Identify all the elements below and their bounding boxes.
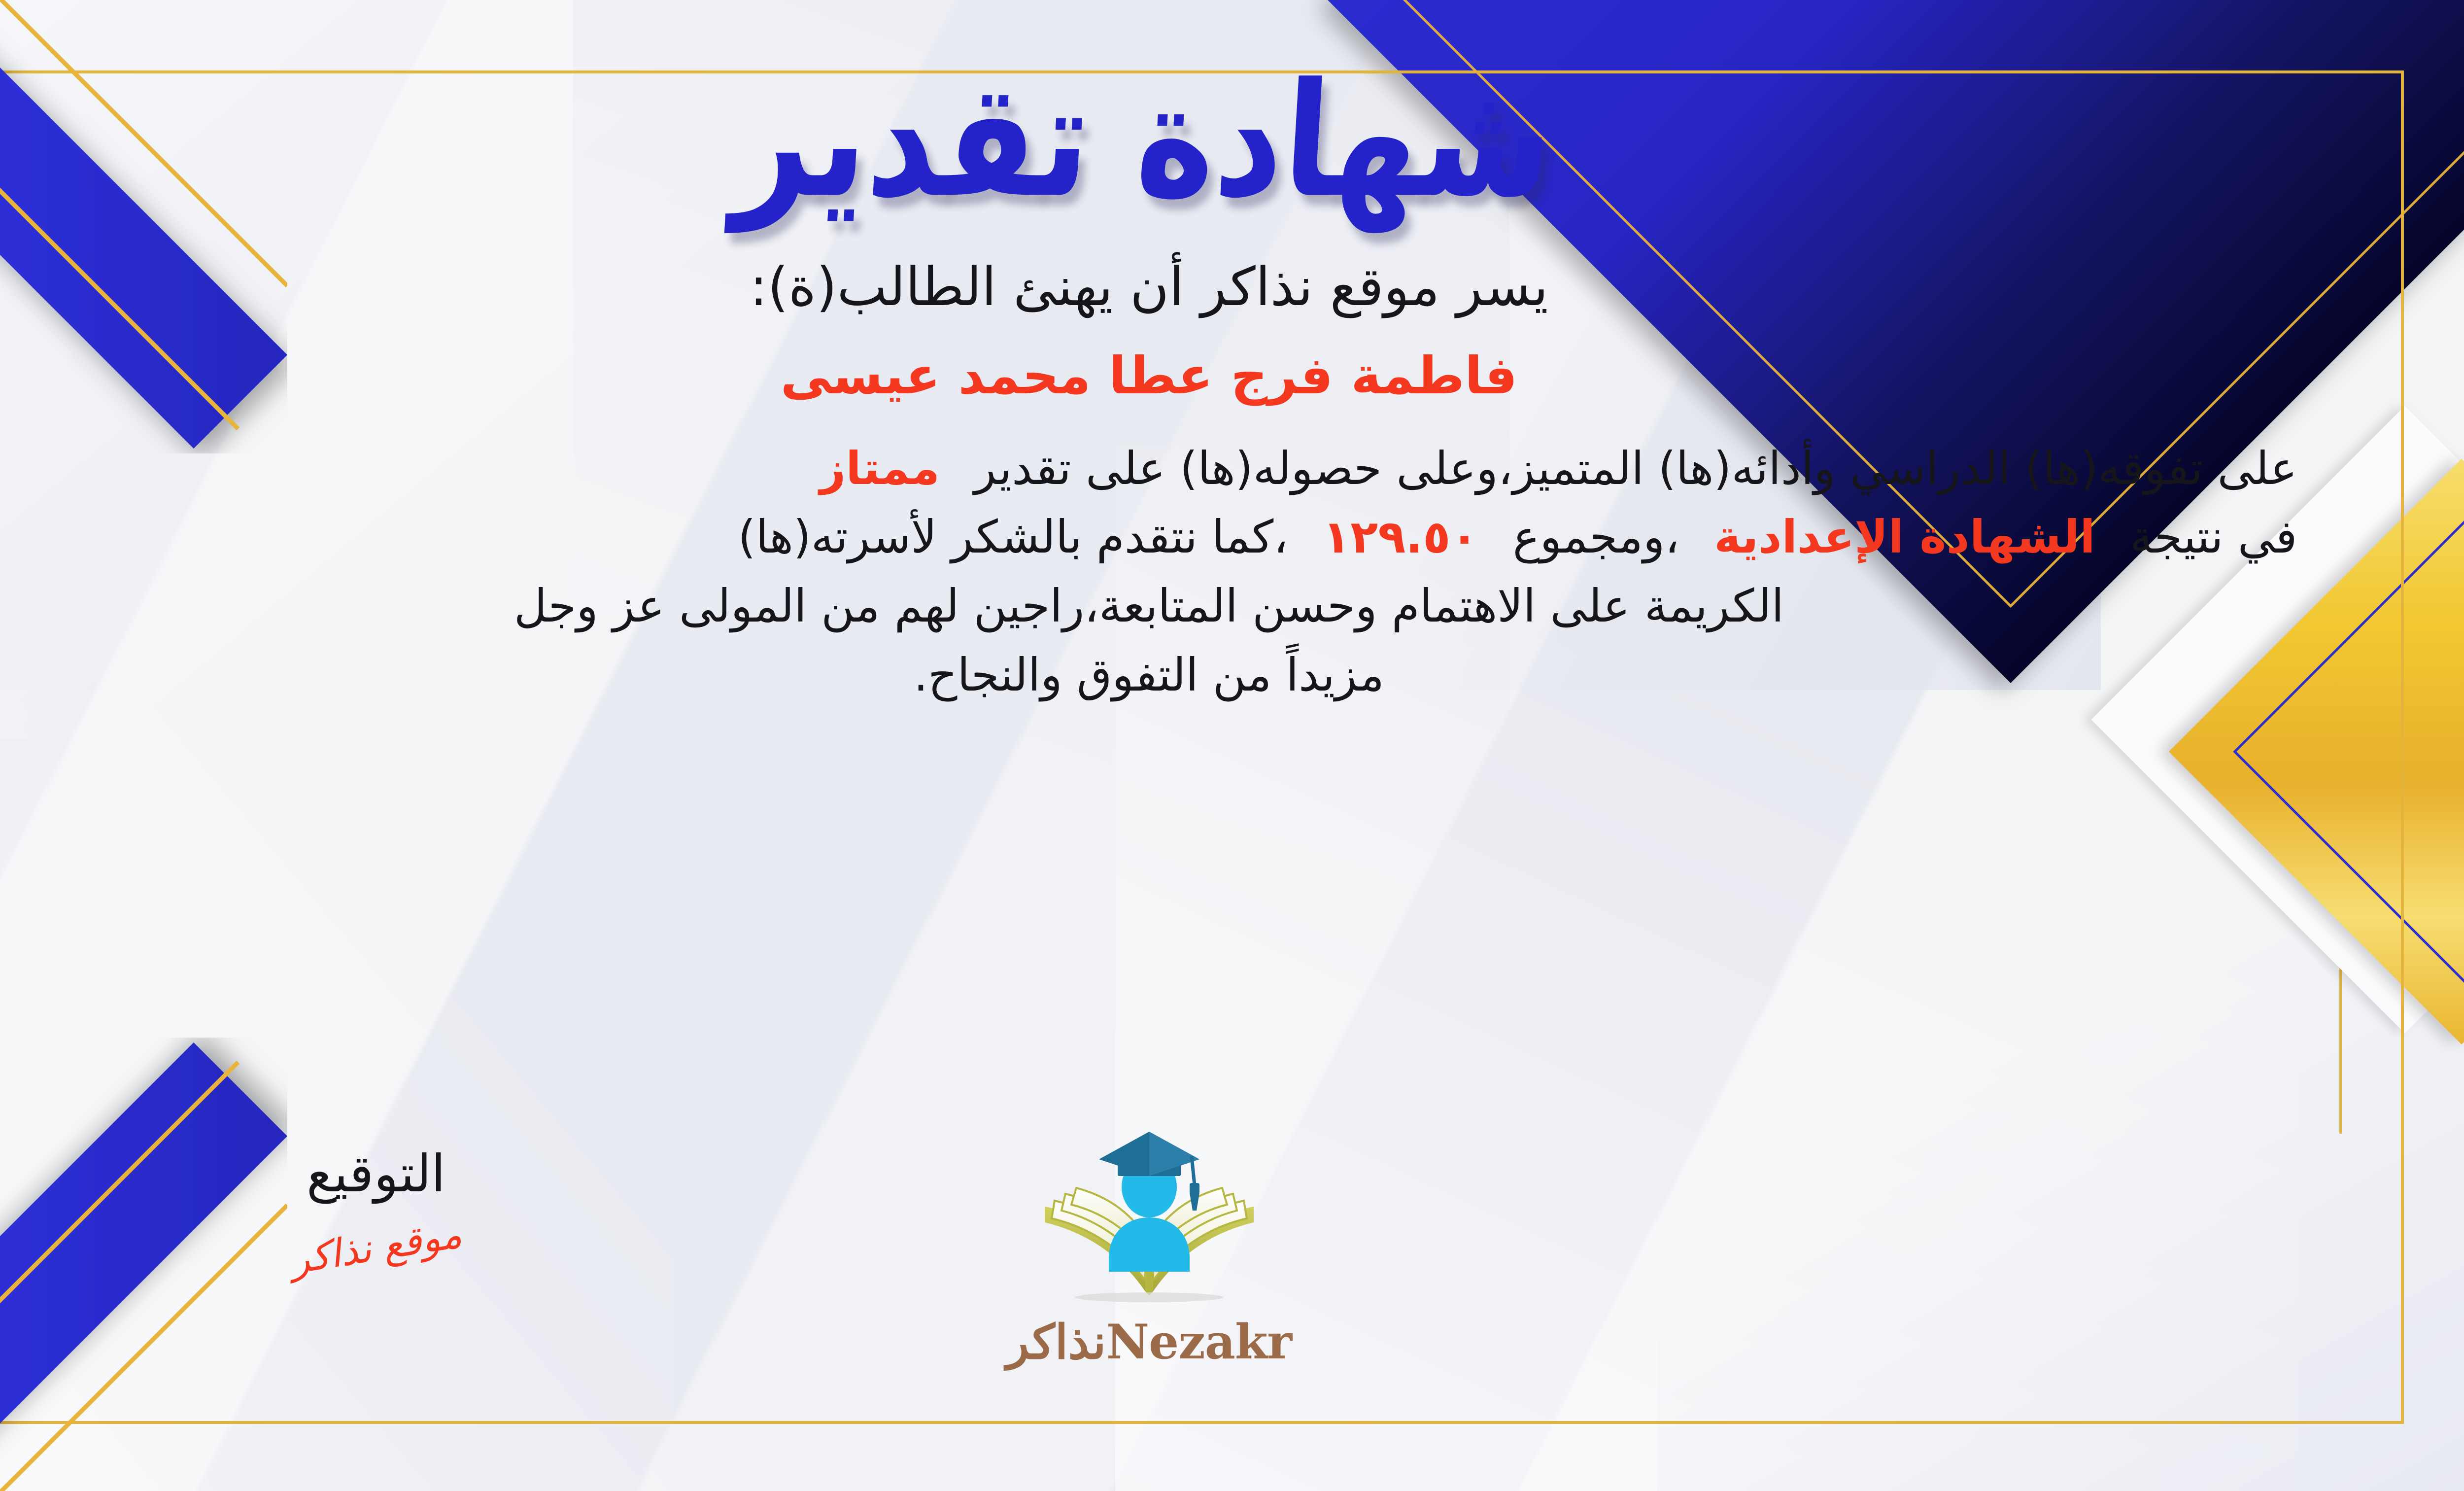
body-line4-suffix: ،كما نتقدم بالشكر لأسرته(ها): [738, 511, 1288, 563]
exam-name: الشهادة الإعدادية: [1714, 511, 2095, 563]
greeting-line: يسر موقع نذاكر أن يهنئ الطالب(ة):: [750, 256, 1548, 318]
logo-wordmark-arabic: نذاكر: [1006, 1314, 1106, 1370]
body-line-achievement: على تفوقه(ها) الدراسي وأدائه(ها) المتميز…: [1, 434, 2297, 503]
body-line-exam: في نتيجةالشهادة الإعدادية،ومجموع١٢٩.٥٠،ك…: [1, 503, 2297, 572]
certificate-title: شهادة تقدير: [731, 58, 1558, 223]
signature-block: التوقيع موقع نذاكر: [218, 1144, 534, 1270]
logo-wordmark-latin: Nezakr: [1106, 1314, 1292, 1370]
certificate-canvas: شهادة تقدير يسر موقع نذاكر أن يهنئ الطال…: [0, 0, 2464, 1491]
signature-label: التوقيع: [218, 1144, 534, 1204]
body-line4-mid: ،ومجموع: [1513, 511, 1679, 563]
certificate-footer: التوقيع موقع نذاكر: [0, 1124, 2395, 1400]
student-name: فاطمة فرج عطا محمد عيسى: [781, 346, 1518, 406]
body-line-thanks: الكريمة على الاهتمام وحسن المتابعة،راجين…: [1, 572, 2297, 641]
nezakr-logo: Nezakrنذاكر: [962, 1124, 1336, 1370]
graduate-book-logo-icon: [1016, 1124, 1282, 1311]
grade-value: ممتاز: [820, 442, 940, 495]
body-line4-prefix: في نتيجة: [2130, 511, 2297, 563]
body-line-wish: مزيداً من التفوق والنجاح.: [1, 641, 2297, 710]
logo-wordmark: Nezakrنذاكر: [962, 1314, 1336, 1370]
signature-mark: موقع نذاكر: [287, 1212, 465, 1283]
total-score: ١٢٩.٥٠: [1323, 511, 1478, 563]
body-line3-text: على تفوقه(ها) الدراسي وأدائه(ها) المتميز…: [974, 442, 2297, 495]
certificate-body: على تفوقه(ها) الدراسي وأدائه(ها) المتميز…: [1, 434, 2297, 710]
